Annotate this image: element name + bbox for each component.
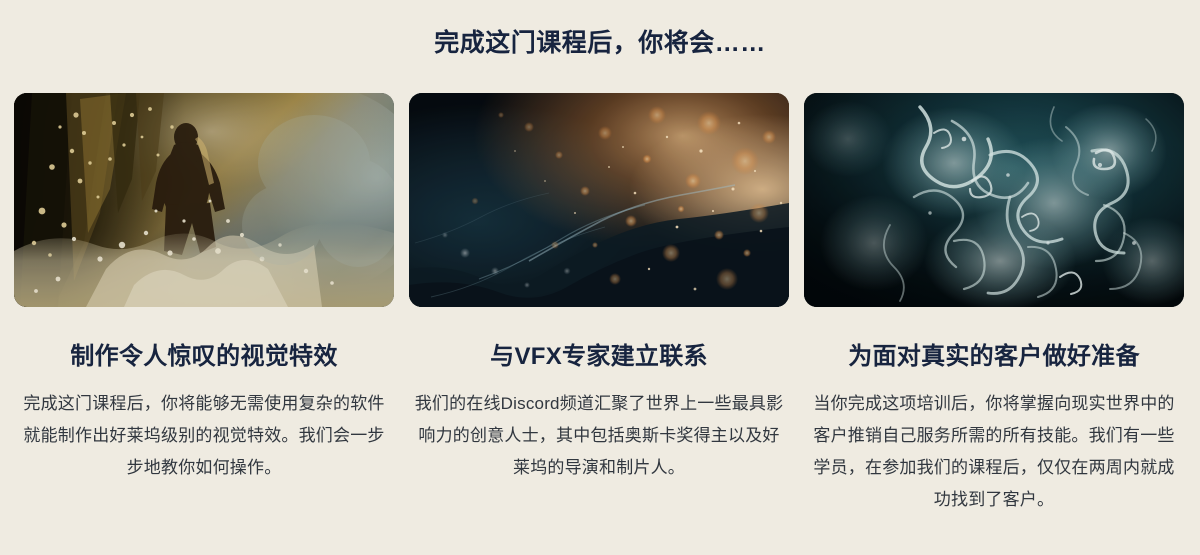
embers-and-wave-illustration	[409, 93, 789, 307]
benefit-card-list: 制作令人惊叹的视觉特效 完成这门课程后，你将能够无需使用复杂的软件就能制作出好莱…	[14, 93, 1186, 516]
teal-smoke-illustration	[804, 93, 1184, 307]
benefit-card: 为面对真实的客户做好准备 当你完成这项培训后，你将掌握向现实世界中的客户推销自己…	[804, 93, 1184, 516]
card-image-teal-smoke-wisps-on-dark-background	[804, 93, 1184, 307]
card-body-text: 完成这门课程后，你将能够无需使用复杂的软件就能制作出好莱坞级别的视觉特效。我们会…	[14, 388, 394, 484]
card-heading: 制作令人惊叹的视觉特效	[14, 341, 394, 373]
promo-section: 完成这门课程后，你将会……	[0, 0, 1200, 555]
card-heading: 为面对真实的客户做好准备	[804, 341, 1184, 373]
card-heading: 与VFX专家建立联系	[409, 341, 789, 373]
section-title: 完成这门课程后，你将会……	[0, 26, 1200, 60]
card-image-dark-blue-wave-with-orange-embers-bokeh	[409, 93, 789, 307]
card-body-text: 我们的在线Discord频道汇聚了世界上一些最具影响力的创意人士，其中包括奥斯卡…	[409, 388, 789, 484]
card-image-hero-running-through-water-golden-light	[14, 93, 394, 307]
card-body-text: 当你完成这项培训后，你将掌握向现实世界中的客户推销自己服务所需的所有技能。我们有…	[804, 388, 1184, 516]
benefit-card: 与VFX专家建立联系 我们的在线Discord频道汇聚了世界上一些最具影响力的创…	[409, 93, 789, 516]
golden-water-scene-illustration	[14, 93, 394, 307]
benefit-card: 制作令人惊叹的视觉特效 完成这门课程后，你将能够无需使用复杂的软件就能制作出好莱…	[14, 93, 394, 516]
